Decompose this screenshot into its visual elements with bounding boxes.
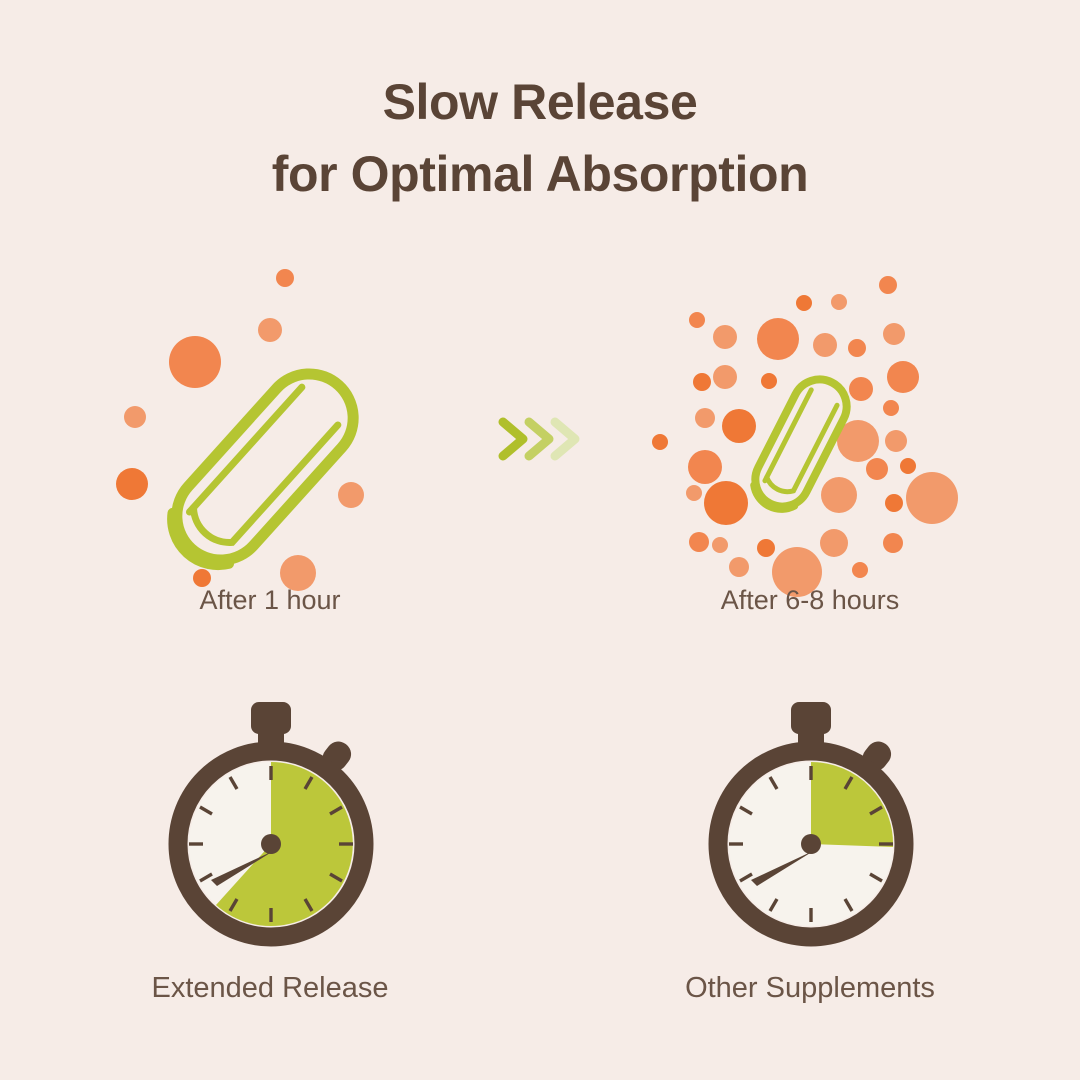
- stopwatch-icon: [645, 700, 975, 952]
- capsule-icon-large-group: [105, 255, 435, 585]
- chevron-3: [555, 422, 575, 456]
- infographic-canvas: Slow Release for Optimal Absorption: [0, 0, 1080, 1080]
- timer-other-supplements-art: [645, 700, 975, 952]
- stage-one-hour-label: After 1 hour: [105, 585, 435, 616]
- stopwatch-hand-hub: [261, 834, 281, 854]
- chevrons-right-icon: [497, 412, 583, 466]
- page-title: Slow Release for Optimal Absorption: [0, 66, 1080, 210]
- particle-cluster-dense: [652, 276, 958, 597]
- stage-one-hour-art: [105, 255, 435, 575]
- capsule-icon-small-group: [645, 255, 975, 595]
- chevron-2: [529, 422, 549, 456]
- stage-six-eight-hours-label: After 6-8 hours: [645, 585, 975, 616]
- timer-comparison-row: Extended Release: [0, 700, 1080, 1030]
- stopwatch-icon: [105, 700, 435, 952]
- timer-extended-release-label: Extended Release: [105, 972, 435, 1005]
- title-line-1: Slow Release: [0, 66, 1080, 138]
- timer-extended-release-art: [105, 700, 435, 952]
- stage-one-hour: After 1 hour: [105, 255, 435, 645]
- capsule-icon: [155, 356, 372, 583]
- chevron-1: [503, 422, 523, 456]
- timer-other-supplements: Other Supplements: [645, 700, 975, 1030]
- timer-extended-release: Extended Release: [105, 700, 435, 1030]
- stopwatch-hand-hub: [801, 834, 821, 854]
- title-line-2: for Optimal Absorption: [0, 138, 1080, 210]
- stage-six-eight-hours-art: [645, 255, 975, 575]
- timer-other-supplements-label: Other Supplements: [645, 972, 975, 1005]
- stage-six-eight-hours: After 6-8 hours: [645, 255, 975, 645]
